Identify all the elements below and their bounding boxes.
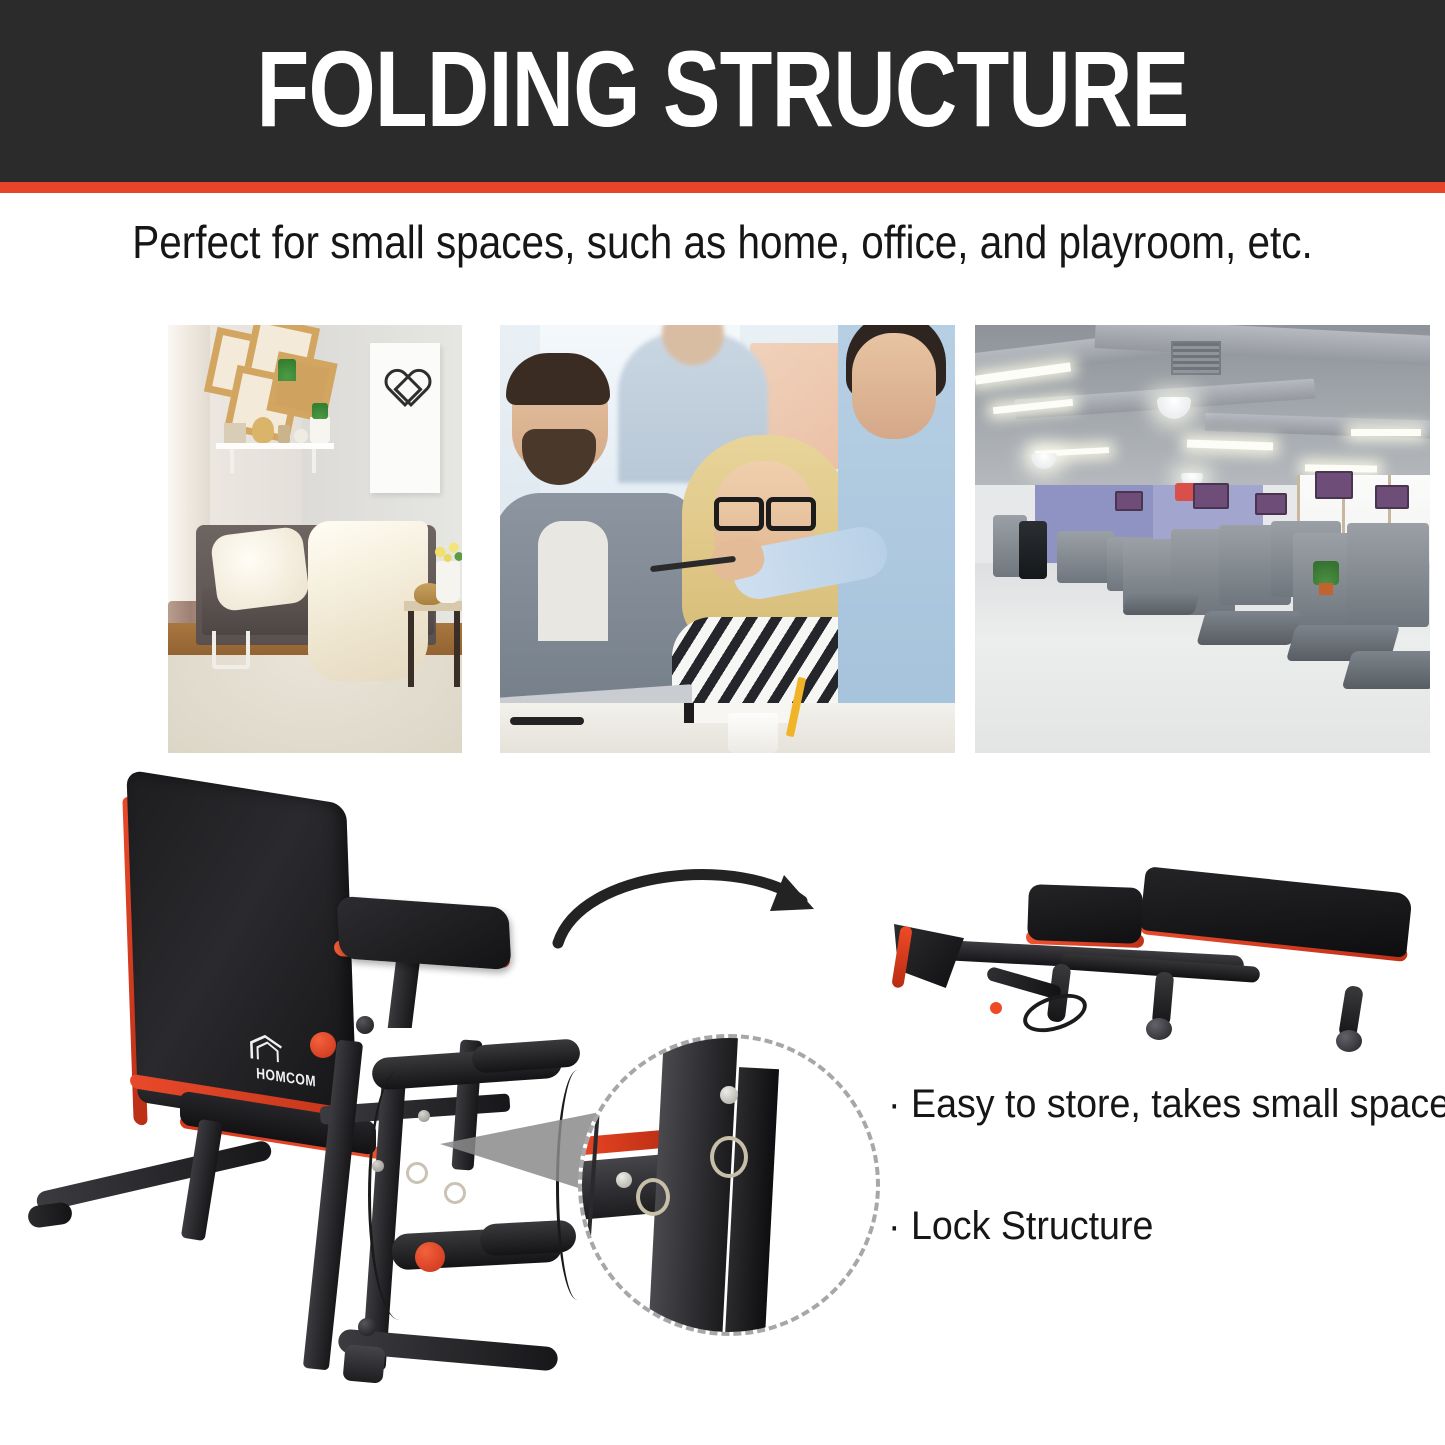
feature-list: · Easy to store, takes small space · Loc…	[888, 1082, 1444, 1248]
wall-monitor	[1315, 471, 1353, 499]
product-bench-folded	[890, 868, 1435, 1068]
lifestyle-photo-row	[168, 325, 1430, 753]
frame-diagonal-brace	[181, 1119, 223, 1241]
wall-monitor	[1255, 493, 1287, 515]
coffee-mug	[728, 713, 778, 753]
photo-office	[500, 325, 955, 753]
potted-plant	[310, 417, 330, 443]
photo-living-room	[168, 325, 462, 753]
man-shirt	[538, 521, 608, 641]
lock-structure-magnifier	[578, 1034, 880, 1336]
detail-adjust-hole	[616, 1172, 632, 1188]
red-end-cap	[990, 1002, 1002, 1014]
preacher-pad-post	[388, 958, 421, 1028]
shelf-plant	[278, 359, 296, 381]
lock-pin-ring	[636, 1178, 670, 1216]
lock-pin-ring	[406, 1162, 428, 1184]
leg-end-cap	[27, 1201, 74, 1229]
potted-plant	[1313, 561, 1339, 585]
flowers	[430, 537, 462, 567]
woman2-face	[852, 333, 936, 439]
wall-shelf	[216, 443, 334, 449]
wall-monitor	[1375, 485, 1409, 509]
heart-icon	[386, 371, 424, 405]
vase	[436, 561, 460, 603]
detail-adjust-hole	[720, 1086, 738, 1104]
subtitle: Perfect for small spaces, such as home, …	[87, 215, 1359, 269]
adjustment-knob	[310, 1032, 336, 1058]
brand-logo-text: HOMCOM	[256, 1065, 327, 1092]
wall-monitor	[1115, 491, 1143, 511]
folded-seat-pad	[1027, 884, 1143, 944]
desk-pen	[510, 717, 584, 725]
machine-base	[1196, 611, 1302, 645]
lock-pin-ring	[710, 1136, 748, 1178]
base-end-cap	[343, 1344, 386, 1383]
living-room-scene	[168, 325, 462, 753]
decor-bottle	[278, 425, 290, 443]
product-bench-open: HOMCOM	[20, 770, 640, 1430]
page-title: FOLDING STRUCTURE	[257, 35, 1189, 143]
frame-bolt	[372, 1160, 384, 1172]
machine-base	[1342, 651, 1430, 689]
header-accent-rule	[0, 182, 1445, 193]
transition-arrow	[552, 845, 852, 965]
wall-monitor	[1193, 483, 1229, 509]
resistance-band-handle	[1018, 987, 1091, 1040]
feature-item-store: · Easy to store, takes small space	[888, 1082, 1411, 1126]
photo-gym	[975, 325, 1430, 753]
elliptical-trainer	[1347, 523, 1429, 627]
block-calendar	[224, 423, 246, 443]
decor-ball	[294, 429, 308, 443]
wall-art-canvas	[370, 343, 440, 493]
curved-arrow-icon	[552, 845, 852, 965]
resistance-cable	[368, 1070, 431, 1320]
weight-stack	[1019, 521, 1047, 579]
folded-handle	[986, 966, 1063, 1000]
frame-bolt	[418, 1110, 430, 1122]
ceiling-light	[1351, 429, 1421, 436]
feature-item-lock: · Lock Structure	[888, 1204, 1411, 1248]
feature-text: Lock Structure	[911, 1204, 1153, 1248]
house-roof-icon	[247, 1032, 288, 1068]
ceiling-vent	[1171, 341, 1221, 375]
foam-roller-upper	[471, 1038, 581, 1073]
preacher-curl-pad	[336, 896, 511, 970]
cable-handle	[358, 1318, 376, 1336]
feature-text: Easy to store, takes small space	[911, 1082, 1445, 1126]
sofa-leg	[212, 631, 250, 669]
folded-foot-cap	[1146, 1018, 1172, 1040]
cable-handle	[356, 1016, 374, 1034]
folded-foot-cap	[1336, 1030, 1362, 1052]
bullet-marker: ·	[888, 1082, 901, 1126]
gym-scene	[975, 325, 1430, 753]
office-scene	[500, 325, 955, 753]
clock	[252, 417, 274, 443]
front-leg	[35, 1139, 273, 1212]
machine-base	[1122, 591, 1201, 615]
bullet-marker: ·	[888, 1204, 901, 1248]
page-header: FOLDING STRUCTURE	[0, 0, 1445, 182]
cushion	[210, 526, 311, 613]
glasses-icon	[714, 497, 814, 521]
folded-backrest-pad	[1139, 866, 1412, 958]
